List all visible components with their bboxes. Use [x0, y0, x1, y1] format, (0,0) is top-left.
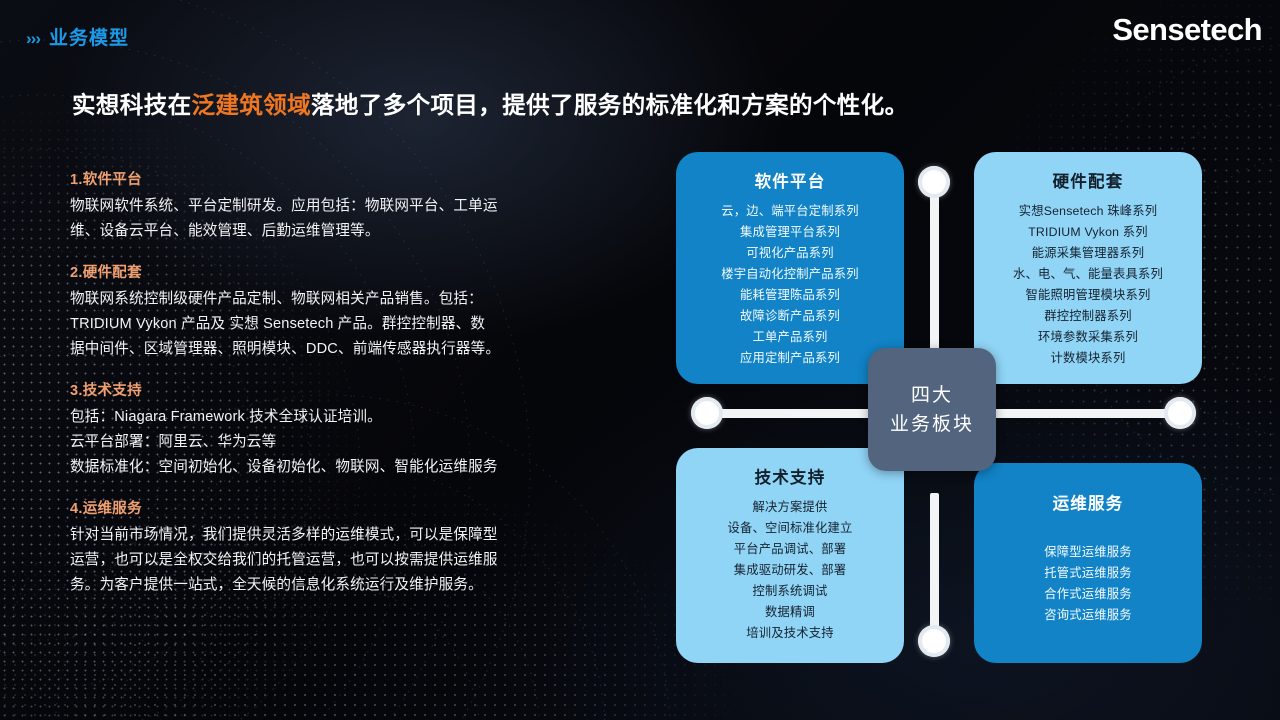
- brand-logo: Sensetech: [1112, 12, 1262, 48]
- card-title: 硬件配套: [974, 168, 1202, 192]
- card-item: 设备、空间标准化建立: [676, 518, 904, 539]
- card-ops-service[interactable]: 运维服务 保障型运维服务 托管式运维服务 合作式运维服务 咨询式运维服务: [974, 463, 1202, 663]
- body-block-line: 务。为客户提供一站式，全天候的信息化系统运行及维护服务。: [70, 573, 570, 598]
- body-block-line: 云平台部署：阿里云、华为云等: [70, 430, 570, 455]
- section-tag-label: 业务模型: [49, 29, 129, 48]
- card-item: 咨询式运维服务: [974, 605, 1202, 626]
- card-item: 环境参数采集系列: [974, 327, 1202, 348]
- node-dot-bottom: [918, 625, 950, 657]
- card-item: 实想Sensetech 珠峰系列: [974, 201, 1202, 222]
- diagram-hub[interactable]: 四大 业务板块: [868, 348, 996, 471]
- card-item: 能耗管理陈品系列: [676, 285, 904, 306]
- body-block-title: 2.硬件配套: [70, 261, 570, 282]
- card-software-platform[interactable]: 软件平台 云，边、端平台定制系列 集成管理平台系列 可视化产品系列 楼宇自动化控…: [676, 152, 904, 384]
- business-diagram: 软件平台 云，边、端平台定制系列 集成管理平台系列 可视化产品系列 楼宇自动化控…: [672, 148, 1232, 678]
- card-item: 解决方案提供: [676, 497, 904, 518]
- body-block-title: 3.技术支持: [70, 379, 570, 400]
- card-item: 培训及技术支持: [676, 623, 904, 644]
- slide-root: ››› 业务模型 Sensetech 实想科技在泛建筑领域落地了多个项目，提供了…: [0, 0, 1280, 720]
- card-item: 控制系统调试: [676, 581, 904, 602]
- card-item: 托管式运维服务: [974, 563, 1202, 584]
- section-tag: ››› 业务模型: [26, 29, 129, 48]
- body-block-line: 针对当前市场情况，我们提供灵活多样的运维模式，可以是保障型: [70, 523, 570, 548]
- card-item: 故障诊断产品系列: [676, 306, 904, 327]
- card-item: 数据精调: [676, 602, 904, 623]
- card-item: 集成驱动研发、部署: [676, 560, 904, 581]
- body-column: 1.软件平台 物联网软件系统、平台定制研发。应用包括：物联网平台、工单运 维、设…: [70, 168, 570, 615]
- card-hardware-kit[interactable]: 硬件配套 实想Sensetech 珠峰系列 TRIDIUM Vykon 系列 能…: [974, 152, 1202, 384]
- card-title: 运维服务: [974, 490, 1202, 514]
- triple-chevron-right-icon: ›››: [26, 30, 40, 47]
- body-block-2: 2.硬件配套 物联网系统控制级硬件产品定制、物联网相关产品销售。包括： TRID…: [70, 261, 570, 362]
- node-dot-right: [1164, 397, 1196, 429]
- body-block-line: 物联网软件系统、平台定制研发。应用包括：物联网平台、工单运: [70, 194, 570, 219]
- body-block-line: 物联网系统控制级硬件产品定制、物联网相关产品销售。包括：: [70, 287, 570, 312]
- card-item: 群控控制器系列: [974, 306, 1202, 327]
- body-block-line: 包括：Niagara Framework 技术全球认证培训。: [70, 405, 570, 430]
- body-block-line: 数据标准化：空间初始化、设备初始化、物联网、智能化运维服务: [70, 455, 570, 480]
- card-item: 云，边、端平台定制系列: [676, 201, 904, 222]
- body-block-title: 4.运维服务: [70, 497, 570, 518]
- card-item: 合作式运维服务: [974, 584, 1202, 605]
- body-block-line: 维、设备云平台、能效管理、后勤运维管理等。: [70, 219, 570, 244]
- headline-part1: 实想科技在: [72, 92, 192, 118]
- body-block-4: 4.运维服务 针对当前市场情况，我们提供灵活多样的运维模式，可以是保障型 运营，…: [70, 497, 570, 598]
- card-item: 保障型运维服务: [974, 542, 1202, 563]
- headline-highlight: 泛建筑领域: [192, 92, 312, 118]
- card-item: 水、电、气、能量表具系列: [974, 264, 1202, 285]
- body-block-line: TRIDIUM Vykon 产品及 实想 Sensetech 产品。群控控制器、…: [70, 312, 570, 337]
- body-block-line: 据中间件、区域管理器、照明模块、DDC、前端传感器执行器等。: [70, 337, 570, 362]
- card-item: 楼宇自动化控制产品系列: [676, 264, 904, 285]
- page-title: 实想科技在泛建筑领域落地了多个项目，提供了服务的标准化和方案的个性化。: [72, 86, 909, 120]
- body-block-3: 3.技术支持 包括：Niagara Framework 技术全球认证培训。 云平…: [70, 379, 570, 480]
- body-block-title: 1.软件平台: [70, 168, 570, 189]
- headline-part2: 落地了多个项目，提供了服务的标准化和方案的个性化。: [311, 92, 909, 118]
- card-item: 计数模块系列: [974, 348, 1202, 369]
- body-block-line: 运营，也可以是全权交给我们的托管运营，也可以按需提供运维服: [70, 548, 570, 573]
- node-dot-left: [691, 397, 723, 429]
- connector-bottom: [930, 493, 939, 643]
- card-item: 工单产品系列: [676, 327, 904, 348]
- card-title: 技术支持: [676, 464, 904, 488]
- card-item: 可视化产品系列: [676, 243, 904, 264]
- card-title: 软件平台: [676, 168, 904, 192]
- node-dot-top: [918, 166, 950, 198]
- card-item: TRIDIUM Vykon 系列: [974, 222, 1202, 243]
- card-tech-support[interactable]: 技术支持 解决方案提供 设备、空间标准化建立 平台产品调试、部署 集成驱动研发、…: [676, 448, 904, 663]
- hub-line-2: 业务板块: [890, 410, 974, 439]
- card-item: 集成管理平台系列: [676, 222, 904, 243]
- card-item: 平台产品调试、部署: [676, 539, 904, 560]
- body-block-1: 1.软件平台 物联网软件系统、平台定制研发。应用包括：物联网平台、工单运 维、设…: [70, 168, 570, 244]
- hub-line-1: 四大: [911, 381, 953, 410]
- card-item: 能源采集管理器系列: [974, 243, 1202, 264]
- card-item: 智能照明管理模块系列: [974, 285, 1202, 306]
